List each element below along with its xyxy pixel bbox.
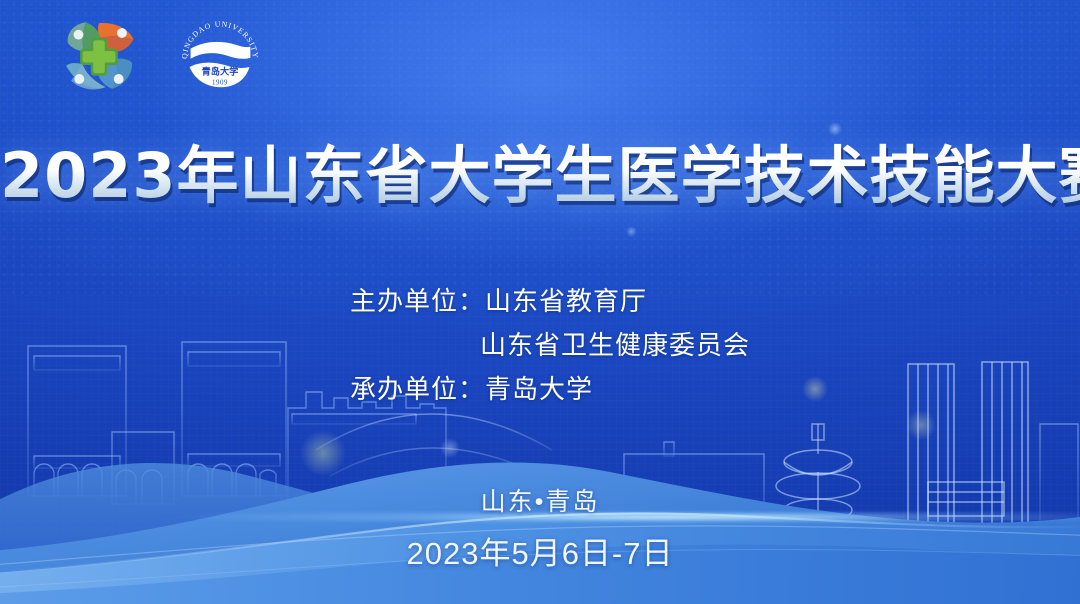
bokeh-dot bbox=[828, 122, 842, 136]
host-label: 主办单位： bbox=[350, 286, 485, 316]
organizer-block: 主办单位：山东省教育厅 山东省卫生健康委员会 承办单位：青岛大学 bbox=[350, 279, 750, 411]
undertaker-row: 承办单位：青岛大学 bbox=[350, 367, 750, 411]
page-title: 2023年山东省大学生医学技术技能大赛 bbox=[0, 143, 1080, 208]
university-chinese-name: 青岛大学 bbox=[202, 65, 239, 77]
undertaker-label: 承办单位： bbox=[350, 374, 485, 404]
event-date: 2023年5月6日-7日 bbox=[0, 528, 1080, 573]
undertaker-unit-1: 青岛大学 bbox=[485, 374, 593, 404]
event-location: 山东•青岛 bbox=[0, 482, 1080, 518]
qingdao-university-emblem: QINGDAO UNIVERSITY 青岛大学 1909 bbox=[174, 10, 266, 102]
university-founding-year: 1909 bbox=[212, 80, 228, 87]
poster-canvas: QINGDAO UNIVERSITY 青岛大学 1909 2023年山东省大学生… bbox=[0, 0, 1080, 604]
host-row-2: 山东省卫生健康委员会 bbox=[350, 323, 750, 367]
bokeh-dot bbox=[626, 226, 637, 237]
host-unit-2: 山东省卫生健康委员会 bbox=[480, 330, 750, 360]
footer-block: 山东•青岛 2023年5月6日-7日 bbox=[0, 482, 1080, 573]
medical-skills-emblem bbox=[58, 15, 140, 97]
logo-group: QINGDAO UNIVERSITY 青岛大学 1909 bbox=[58, 10, 266, 102]
host-unit-1: 山东省教育厅 bbox=[485, 286, 647, 316]
host-row: 主办单位：山东省教育厅 bbox=[350, 279, 750, 323]
